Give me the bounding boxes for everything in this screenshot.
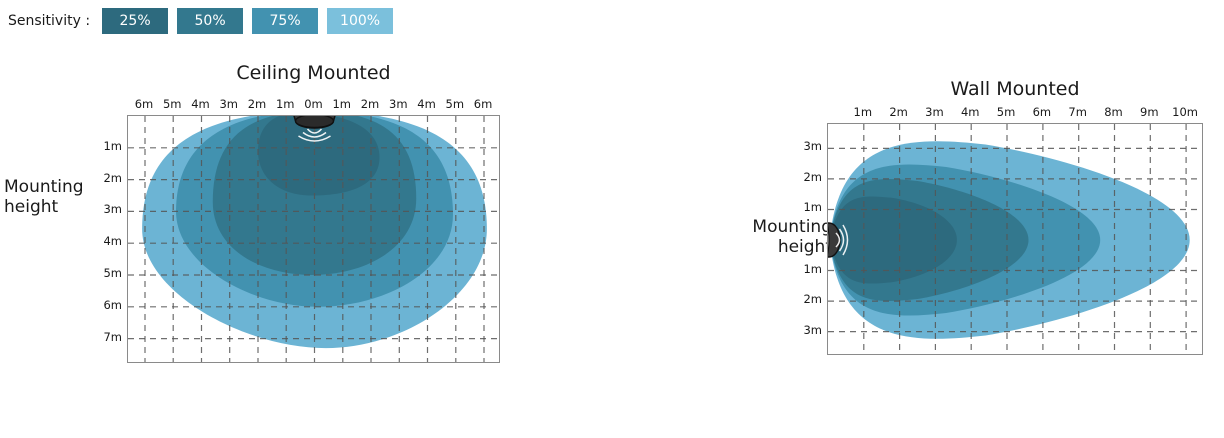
wall-x-tick: 10m [1167,105,1203,119]
wall-y-tick: 2m [792,292,822,306]
ceiling-y-tick: 5m [92,266,122,280]
wall-y-axis-label: Mounting height [722,218,832,257]
coverage-diagram-page: Sensitivity : 25% 50% 75% 100% Ceiling M… [0,0,1224,438]
wall-x-tick: 2m [881,105,917,119]
wall-mounted-chart: Wall Mounted Mounting height 1m2m3m4m5m6… [700,0,1224,438]
ceiling-y-tick: 7m [92,330,122,344]
ceiling-y-tick: 3m [92,202,122,216]
wall-x-tick: 3m [916,105,952,119]
wall-y-axis-label-line2: height [722,238,832,258]
wall-y-axis-label-line1: Mounting [722,218,832,238]
wall-y-tick: 2m [792,170,822,184]
wall-y-tick: 3m [792,323,822,337]
ceiling-plot-area [127,115,500,363]
wall-x-tick: 8m [1095,105,1131,119]
wall-plot-area [827,123,1203,355]
wall-x-tick: 6m [1024,105,1060,119]
ceiling-coverage-svg [128,116,500,363]
ceiling-y-tick: 4m [92,234,122,248]
ceiling-y-tick: 2m [92,171,122,185]
wall-x-tick: 5m [988,105,1024,119]
ceiling-y-tick: 1m [92,139,122,153]
wall-x-tick: 4m [952,105,988,119]
wall-y-tick: 3m [792,139,822,153]
wall-y-tick: 1m [792,262,822,276]
wall-x-tick: 9m [1131,105,1167,119]
ceiling-chart-title: Ceiling Mounted [127,62,500,84]
wall-chart-title: Wall Mounted [827,78,1203,100]
wall-x-tick: 7m [1060,105,1096,119]
ceiling-mounted-chart: Ceiling Mounted Mounting height 6m5m4m3m… [0,0,520,438]
wall-coverage-svg [828,124,1203,355]
wall-y-tick: 1m [792,200,822,214]
ceiling-y-tick: 6m [92,298,122,312]
wall-x-tick: 1m [845,105,881,119]
ceiling-x-tick: 6m [465,97,501,111]
